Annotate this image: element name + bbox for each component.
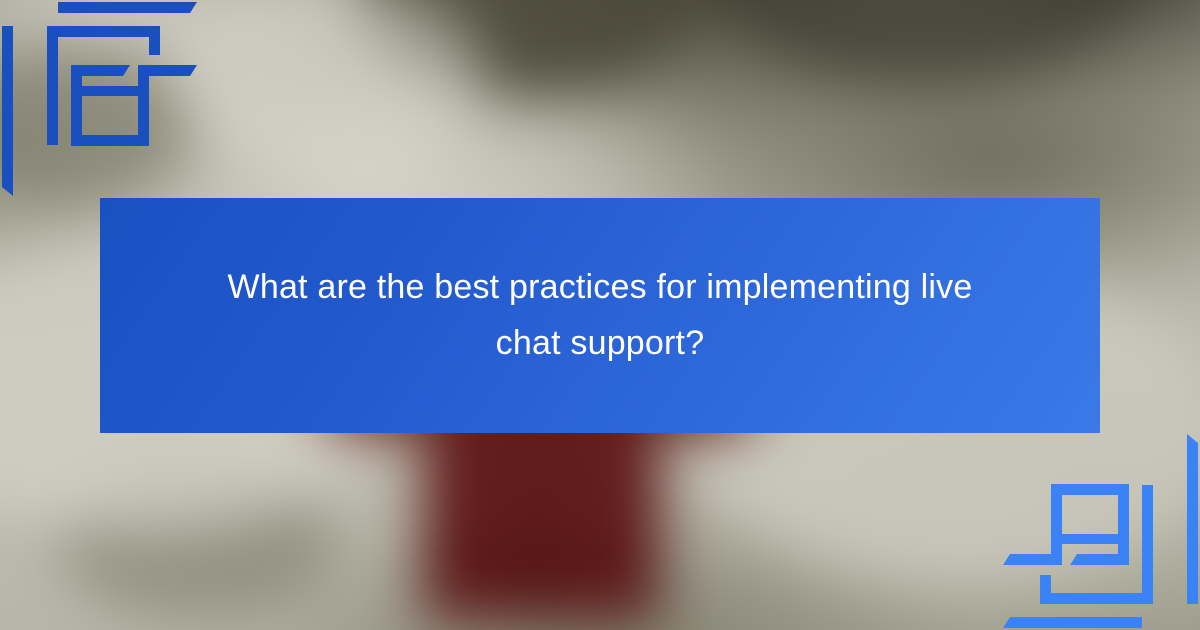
social-card: What are the best practices for implemen… [0,0,1200,630]
headline-banner: What are the best practices for implemen… [100,198,1100,433]
headline-text: What are the best practices for implemen… [200,260,1000,370]
